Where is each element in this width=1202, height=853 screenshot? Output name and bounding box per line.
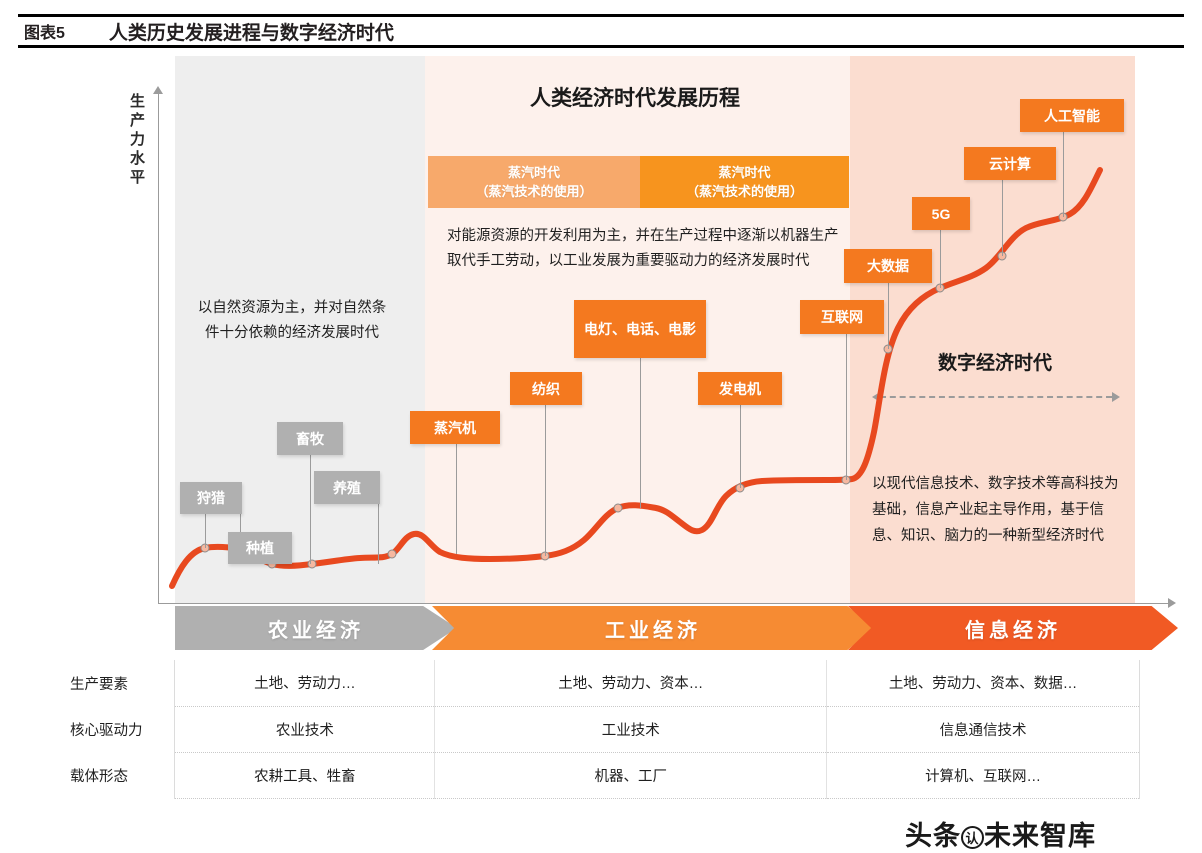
table-row: 核心驱动力 农业技术 工业技术 信息通信技术 [60,706,1140,752]
callout-generator[interactable]: 发电机 [698,372,782,405]
leader-line-cloud [1002,180,1003,256]
cell-information-carrier: 计算机、互联网… [827,752,1140,798]
cell-agriculture-driver: 农业技术 [175,706,435,752]
figure-number: 图表5 [24,19,65,43]
cell-industry-driver: 工业技术 [435,706,827,752]
arrow-band-information[interactable]: 信息经济 [848,606,1178,650]
callout-steam-engine[interactable]: 蒸汽机 [410,411,500,444]
callout-planting[interactable]: 种植 [228,532,292,564]
leader-line-electric [640,358,641,508]
leader-line-breeding [378,504,379,564]
leader-line-5g [940,230,941,288]
callout-electric[interactable]: 电灯、电话、电影 [574,300,706,358]
leader-line-bigdata [888,283,889,349]
leader-line-husbandry [310,455,311,564]
table-row: 生产要素 土地、劳动力… 土地、劳动力、资本… 土地、劳动力、资本、数据… [60,660,1140,706]
figure-header: 图表5 人类历史发展进程与数字经济时代 [18,14,1184,48]
arrow-band-industry[interactable]: 工业经济 [432,606,874,650]
leader-line-hunting [205,511,206,548]
leader-line-ai [1063,132,1064,217]
callout-ai[interactable]: 人工智能 [1020,99,1124,132]
cell-industry-factors: 土地、劳动力、资本… [435,660,827,706]
arrow-band-agriculture[interactable]: 农业经济 [175,606,457,650]
leader-line-steam-engine [456,443,457,554]
watermark-circle-icon: 认 [961,826,984,849]
callout-textile[interactable]: 纺织 [510,372,582,405]
chart-area: 生产力水平 人类经济时代发展历程 蒸汽时代 （蒸汽技术的使用） 蒸汽时代 （蒸汽… [0,56,1202,808]
leader-line-generator [740,405,741,488]
callout-5g[interactable]: 5G [912,197,970,230]
callout-breeding[interactable]: 养殖 [314,471,380,504]
callout-bigdata[interactable]: 大数据 [844,249,932,283]
callout-internet[interactable]: 互联网 [800,300,884,334]
watermark-prefix: 头条 [905,821,961,851]
cell-information-driver: 信息通信技术 [827,706,1140,752]
leader-line-textile [545,404,546,556]
leader-line-internet [846,334,847,480]
callout-husbandry[interactable]: 畜牧 [277,422,343,455]
callout-hunting[interactable]: 狩猎 [180,482,242,514]
row-header-production-factors: 生产要素 [60,660,175,706]
cell-agriculture-carrier: 农耕工具、牲畜 [175,752,435,798]
cell-information-factors: 土地、劳动力、资本、数据… [827,660,1140,706]
row-header-core-driver: 核心驱动力 [60,706,175,752]
watermark-suffix: 未来智库 [984,821,1096,851]
attributes-table: 生产要素 土地、劳动力… 土地、劳动力、资本… 土地、劳动力、资本、数据… 核心… [60,660,1140,799]
watermark: 头条认未来智库 [905,814,1096,853]
row-header-carrier-form: 载体形态 [60,752,175,798]
cell-industry-carrier: 机器、工厂 [435,752,827,798]
table-row: 载体形态 农耕工具、牲畜 机器、工厂 计算机、互联网… [60,752,1140,798]
cell-agriculture-factors: 土地、劳动力… [175,660,435,706]
callout-cloud[interactable]: 云计算 [964,147,1056,180]
figure-title: 人类历史发展进程与数字经济时代 [109,18,394,45]
